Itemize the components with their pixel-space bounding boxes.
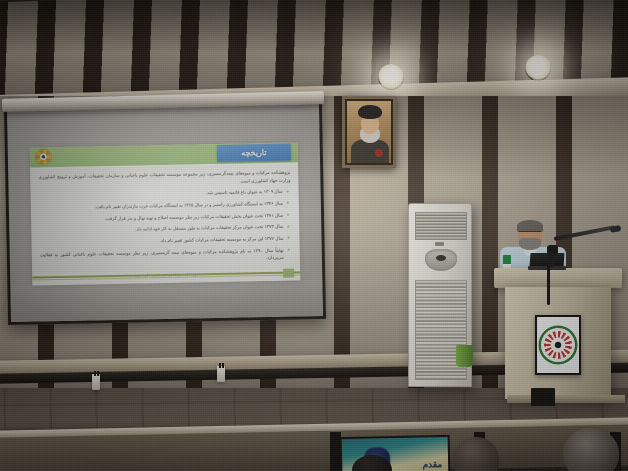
- floral-emblem-icon: [541, 328, 575, 362]
- wall-fixture-left: [92, 374, 100, 390]
- ac-brand-logo: [435, 242, 444, 246]
- list-item: سال ۱۳۷۱ تحت عنوان بخش تحقیقات مرکبات زی…: [39, 211, 291, 223]
- portrait-image: [347, 101, 391, 163]
- front-rail: [0, 424, 628, 471]
- podium-emblem: [537, 317, 579, 373]
- slide-body: پژوهشکده مرکبات و میوه‌های نیمه‌گرمسیری،…: [30, 163, 300, 266]
- slide-footer-square: [283, 269, 294, 278]
- list-item: سال ۱۳۴۶ به ایستگاه کشاورزی رامسر و در س…: [39, 200, 291, 212]
- floor-loudspeaker: [531, 388, 555, 406]
- potted-plant: [456, 345, 473, 367]
- ac-top-grille: [415, 212, 467, 240]
- slide-title-box: تاریخچه: [217, 144, 291, 162]
- presenter-beard: [519, 238, 541, 250]
- institute-emblem-icon: [36, 149, 51, 164]
- podium-base: [507, 395, 625, 403]
- projection-screen: تاریخچه پژوهشکده مرکبات و میوه‌های نیمه‌…: [4, 101, 326, 325]
- list-item: سال ۱۳۷۶ این مرکز به موسسه تحقیقات مرکبا…: [39, 235, 291, 247]
- slide-intro-paragraph: پژوهشکده مرکبات و میوه‌های نیمه‌گرمسیری،…: [38, 169, 290, 189]
- list-item: سال ۱۳۰۹ به عنوان باغ قائمیه تاسیس شد.: [39, 188, 291, 200]
- slide-bullet-list: سال ۱۳۰۹ به عنوان باغ قائمیه تاسیس شد. س…: [39, 188, 292, 266]
- screen-blank-area: [10, 280, 323, 322]
- presenter-glasses: [519, 231, 541, 236]
- wall-fixture-right: [217, 366, 225, 382]
- audience-head-right: [563, 428, 619, 471]
- microphone-arm: [554, 225, 616, 240]
- microphone-cable: [547, 265, 550, 305]
- microphone: [548, 227, 620, 261]
- microphone-head: [610, 225, 622, 233]
- ceiling-light-right: [525, 55, 551, 81]
- portrait-turban: [358, 105, 382, 119]
- podium: [497, 268, 619, 402]
- list-item: سال ۱۳۷۳ تحت عنوان مرکز تحقیقات مرکبات ب…: [39, 223, 291, 235]
- framed-portrait: [342, 96, 396, 168]
- photo-scene: تاریخچه پژوهشکده مرکبات و میوه‌های نیمه‌…: [0, 0, 628, 471]
- banner-text: مقدم: [422, 459, 442, 470]
- slide-title: تاریخچه: [241, 148, 267, 157]
- portrait-accent: [375, 149, 383, 157]
- podium-body: [505, 287, 611, 399]
- presentation-slide: تاریخچه پژوهشکده مرکبات و میوه‌های نیمه‌…: [30, 142, 301, 285]
- podium-top-surface: [494, 268, 622, 288]
- ceiling-light-left: [378, 64, 404, 90]
- list-item: نهایتاً سال ۱۳۹۰ به نام پژوهشکده مرکبات …: [40, 246, 292, 266]
- podium-emblem-frame: [535, 315, 581, 375]
- ac-display-panel: [425, 249, 457, 271]
